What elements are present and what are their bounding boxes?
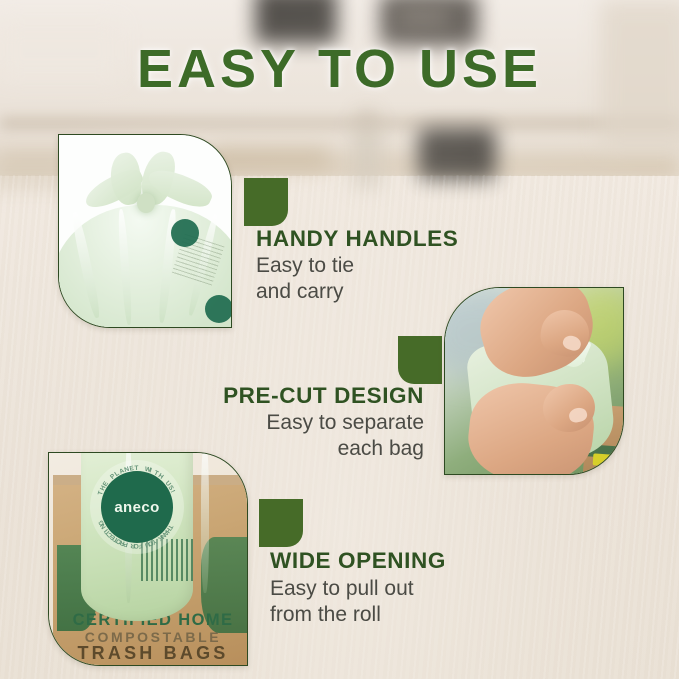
photo1-knot xyxy=(137,193,155,213)
accent-square-pre-cut-design xyxy=(398,336,442,384)
photo2-carton-label xyxy=(593,453,614,466)
photo1-brand-seal-icon xyxy=(205,295,232,323)
page-title: EASY TO USE xyxy=(0,42,679,96)
accent-square-wide-opening xyxy=(259,499,303,547)
photo1-brand-seal-icon xyxy=(171,219,199,247)
headline-pre-cut-design: PRE-CUT DESIGN xyxy=(223,384,424,408)
accent-square-handy-handles xyxy=(244,178,288,226)
photo-pre-cut-design xyxy=(444,287,624,475)
photo-handy-handles xyxy=(58,134,232,328)
aneco-brand-logo: aneco xyxy=(101,471,173,543)
subtext-wide-opening: Easy to pull out from the roll xyxy=(270,576,414,628)
subtext-pre-cut-design: Easy to separate each bag xyxy=(266,410,424,462)
photo-wide-opening: CERTIFIED HOME COMPOSTABLE TRASH BAGS Op… xyxy=(48,452,248,666)
photo3-bag-fold xyxy=(201,452,209,593)
brand-name: aneco xyxy=(114,499,159,516)
headline-wide-opening: WIDE OPENING xyxy=(270,549,446,573)
headline-handy-handles: HANDY HANDLES xyxy=(256,227,458,251)
subtext-handy-handles: Easy to tie and carry xyxy=(256,253,354,305)
box-line-trash-bags: TRASH BAGS xyxy=(57,643,248,664)
poster-canvas: EASY TO USE HANDY HANDLES Easy to tie an… xyxy=(0,0,679,679)
